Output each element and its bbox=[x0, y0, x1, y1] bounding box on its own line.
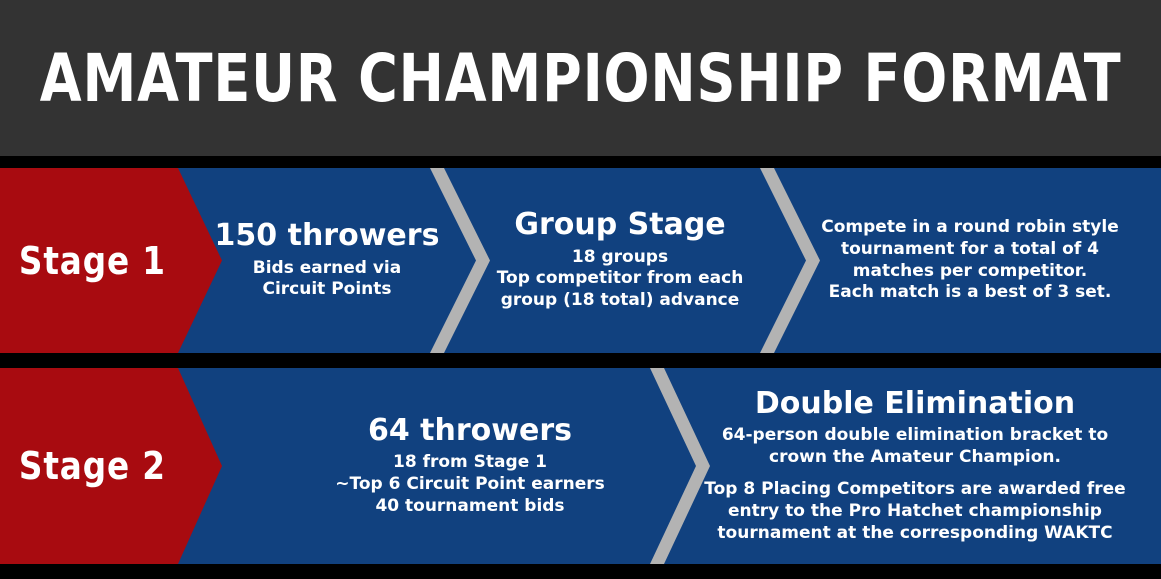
stage-1-label: Stage 1 bbox=[0, 168, 222, 353]
stage-1-band: Stage 1 150 throwers Bids earned via Cir… bbox=[0, 168, 1161, 353]
stage-2-label: Stage 2 bbox=[0, 368, 222, 564]
stage-1-panel-3-line-1: Compete in a round robin style bbox=[821, 217, 1119, 239]
stage-1-panel-1-line-1: Bids earned via bbox=[253, 258, 401, 280]
stage-1-panel-2-heading: Group Stage bbox=[514, 209, 725, 241]
stage-2-panel-1-heading: 64 throwers bbox=[368, 415, 572, 447]
stage-1-panel-3-line-3: matches per competitor. bbox=[853, 261, 1087, 283]
stage-1-panel-1: 150 throwers Bids earned via Circuit Poi… bbox=[196, 168, 458, 353]
stage-1-panel-2: Group Stage 18 groups Top competitor fro… bbox=[470, 168, 770, 353]
stage-2-panel-2-heading: Double Elimination bbox=[755, 388, 1075, 420]
stage-1-label-text: Stage 1 bbox=[0, 239, 166, 283]
stage-1-panel-1-line-2: Circuit Points bbox=[262, 279, 391, 301]
stage-2-panel-1-line-1: 18 from Stage 1 bbox=[393, 452, 547, 474]
stage-2-panel-1: 64 throwers 18 from Stage 1 ~Top 6 Circu… bbox=[290, 368, 650, 564]
stage-1-panel-3-line-2: tournament for a total of 4 bbox=[841, 239, 1099, 261]
stage-1-panel-3: Compete in a round robin style tournamen… bbox=[800, 168, 1140, 353]
divider-top bbox=[0, 156, 1161, 168]
stage-2-panel-2-paragraph-2: Top 8 Placing Competitors are awarded fr… bbox=[690, 478, 1140, 544]
stage-2-panel-1-line-2: ~Top 6 Circuit Point earners bbox=[335, 474, 604, 496]
header-banner: Amateur Championship Format bbox=[0, 0, 1161, 156]
stage-1-panel-2-line-3: group (18 total) advance bbox=[501, 290, 740, 312]
stage-2-label-text: Stage 2 bbox=[0, 444, 166, 488]
stage-2-panel-2-paragraph-1: 64-person double elimination bracket to … bbox=[690, 424, 1140, 468]
stage-1-panel-3-line-4: Each match is a best of 3 set. bbox=[829, 282, 1112, 304]
page-title: Amateur Championship Format bbox=[40, 40, 1122, 117]
stage-2-panel-1-line-3: 40 tournament bids bbox=[375, 496, 564, 518]
stage-2-panel-2: Double Elimination 64-person double elim… bbox=[690, 368, 1140, 564]
stage-1-panel-2-line-1: 18 groups bbox=[572, 247, 668, 269]
stage-1-panel-2-line-2: Top competitor from each bbox=[497, 268, 744, 290]
stage-2-band: Stage 2 64 throwers 18 from Stage 1 ~Top… bbox=[0, 368, 1161, 564]
stage-1-panel-1-heading: 150 throwers bbox=[215, 220, 440, 252]
divider-middle bbox=[0, 353, 1161, 368]
divider-bottom bbox=[0, 564, 1161, 579]
